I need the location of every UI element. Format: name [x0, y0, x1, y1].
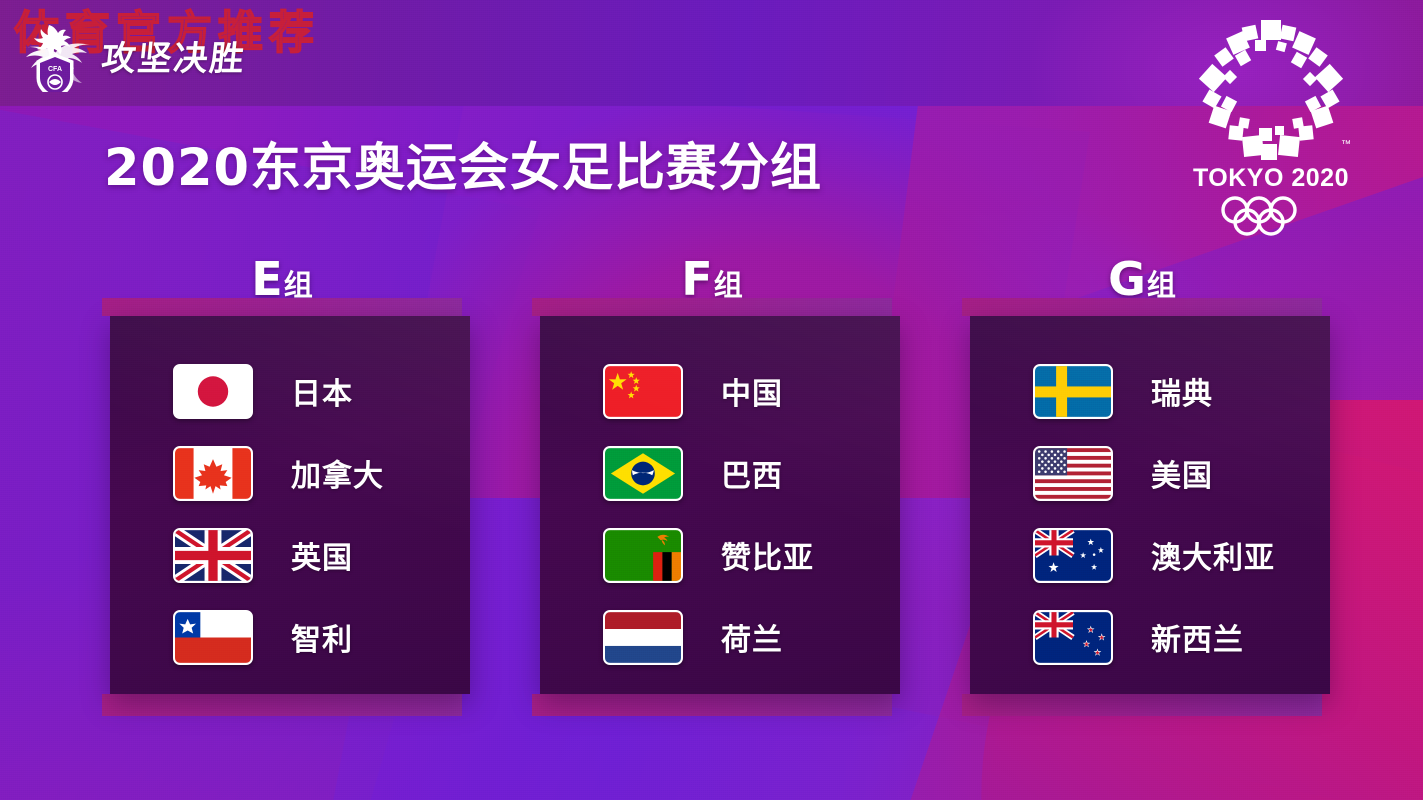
- group-suffix: 组: [714, 268, 743, 302]
- list-item[interactable]: 智利: [110, 596, 470, 678]
- card-body: 中国 巴西: [540, 316, 900, 694]
- flag-sweden-icon: [1033, 364, 1113, 419]
- list-item[interactable]: 中国: [540, 350, 900, 432]
- list-item[interactable]: 美国: [970, 432, 1330, 514]
- list-item[interactable]: 英国: [110, 514, 470, 596]
- flag-japan-icon: [173, 364, 253, 419]
- card-top-strip: [532, 298, 892, 316]
- group-card-E[interactable]: E组 日本 加: [102, 298, 462, 716]
- poster-canvas: 体育官方推荐 CFA 攻坚决胜 2020东京奥运会: [0, 0, 1423, 800]
- flag-great-britain-icon: [173, 528, 253, 583]
- list-item[interactable]: 新西兰: [970, 596, 1330, 678]
- flag-chile-icon: [173, 610, 253, 665]
- team-name: 英国: [291, 533, 353, 577]
- team-name: 中国: [721, 369, 783, 413]
- flag-new-zealand-icon: [1033, 610, 1113, 665]
- card-bottom-strip: [962, 694, 1322, 716]
- list-item[interactable]: 荷兰: [540, 596, 900, 678]
- list-item[interactable]: 赞比亚: [540, 514, 900, 596]
- team-name: 赞比亚: [721, 533, 814, 577]
- flag-netherlands-icon: [603, 610, 683, 665]
- list-item[interactable]: 澳大利亚: [970, 514, 1330, 596]
- group-card-F[interactable]: F组: [532, 298, 892, 716]
- team-name: 日本: [291, 369, 353, 413]
- team-name: 荷兰: [721, 615, 783, 659]
- card-bottom-strip: [102, 694, 462, 716]
- list-item[interactable]: 日本: [110, 350, 470, 432]
- card-top-strip: [102, 298, 462, 316]
- flag-australia-icon: [1033, 528, 1113, 583]
- flag-zambia-icon: [603, 528, 683, 583]
- flag-brazil-icon: [603, 446, 683, 501]
- card-top-strip: [962, 298, 1322, 316]
- team-name: 加拿大: [291, 451, 384, 495]
- flag-china-icon: [603, 364, 683, 419]
- team-list: 瑞典: [970, 350, 1330, 678]
- flag-usa-icon: [1033, 446, 1113, 501]
- team-name: 美国: [1151, 451, 1213, 495]
- group-card-G[interactable]: G组 瑞典: [962, 298, 1322, 716]
- card-body: 瑞典: [970, 316, 1330, 694]
- list-item[interactable]: 瑞典: [970, 350, 1330, 432]
- team-name: 瑞典: [1151, 369, 1213, 413]
- list-item[interactable]: 加拿大: [110, 432, 470, 514]
- team-name: 巴西: [721, 451, 783, 495]
- team-list: 日本 加拿大: [110, 350, 470, 678]
- group-suffix: 组: [284, 268, 313, 302]
- team-name: 澳大利亚: [1151, 533, 1275, 577]
- list-item[interactable]: 巴西: [540, 432, 900, 514]
- team-name: 新西兰: [1151, 615, 1244, 659]
- card-body: 日本 加拿大: [110, 316, 470, 694]
- team-list: 中国 巴西: [540, 350, 900, 678]
- group-suffix: 组: [1147, 268, 1176, 302]
- flag-canada-icon: [173, 446, 253, 501]
- groups-container: E组 日本 加: [0, 0, 1423, 800]
- team-name: 智利: [291, 615, 353, 659]
- card-bottom-strip: [532, 694, 892, 716]
